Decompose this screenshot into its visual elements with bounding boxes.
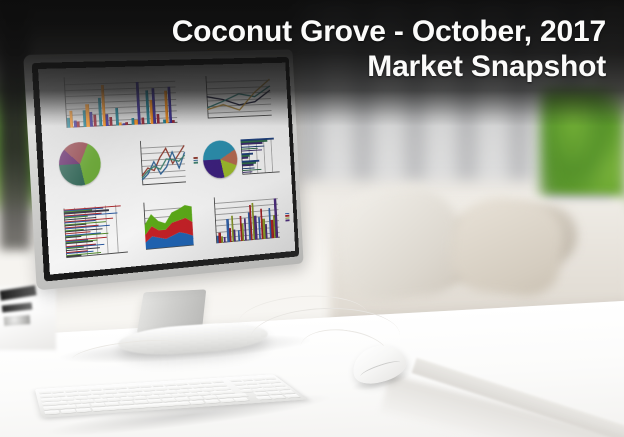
chart-lines-middle[interactable] <box>130 132 202 195</box>
bar <box>242 164 253 166</box>
bar <box>172 120 175 123</box>
gridline <box>271 138 274 173</box>
computer-monitor <box>24 50 340 300</box>
legend <box>285 212 290 221</box>
bar <box>156 114 159 124</box>
plot-area <box>214 193 280 243</box>
legend <box>193 157 198 164</box>
desk-item-cup <box>4 315 31 326</box>
chart-pie-and-bars-right[interactable] <box>200 128 289 191</box>
pie <box>58 141 102 187</box>
chart-hbars-right[interactable] <box>240 136 282 179</box>
market-snapshot-banner: Coconut Grove - October, 2017 Market Sna… <box>0 0 624 437</box>
chart-stacked-area[interactable] <box>133 193 205 261</box>
legend-swatch <box>285 220 289 222</box>
monitor-screen[interactable] <box>38 63 295 275</box>
gridline <box>65 99 176 104</box>
gridline <box>64 86 176 91</box>
bar <box>241 149 262 152</box>
plot-area <box>63 204 128 258</box>
pie <box>202 140 238 180</box>
plot-area <box>140 139 186 185</box>
legend-swatch <box>194 162 198 164</box>
potted-plant-right <box>540 88 624 208</box>
chart-columns-bottom-right[interactable] <box>203 186 292 254</box>
chart-pie-left[interactable] <box>48 136 131 201</box>
headline-line-2: Market Snapshot <box>172 49 606 84</box>
bar <box>125 122 128 125</box>
area-series <box>143 199 193 249</box>
plot-area <box>63 74 177 128</box>
bar <box>77 122 80 128</box>
line-series <box>140 139 186 185</box>
bar <box>241 157 248 159</box>
bar <box>109 117 112 126</box>
bar <box>234 229 237 241</box>
gridline <box>64 92 175 97</box>
headline-line-1: Coconut Grove - October, 2017 <box>172 14 606 49</box>
bar <box>93 114 97 126</box>
gridline <box>64 80 176 84</box>
bar <box>265 224 268 239</box>
bar <box>223 237 225 242</box>
bar <box>141 118 144 125</box>
headline: Coconut Grove - October, 2017 Market Sna… <box>172 14 606 84</box>
gridline <box>263 138 266 173</box>
gridline <box>214 199 277 205</box>
bar <box>241 142 263 145</box>
gridline <box>65 105 176 110</box>
dashboard <box>38 63 295 275</box>
chart-hbars-bottom-left[interactable] <box>52 198 135 268</box>
plot-area <box>143 199 193 249</box>
plot-area <box>241 137 280 174</box>
